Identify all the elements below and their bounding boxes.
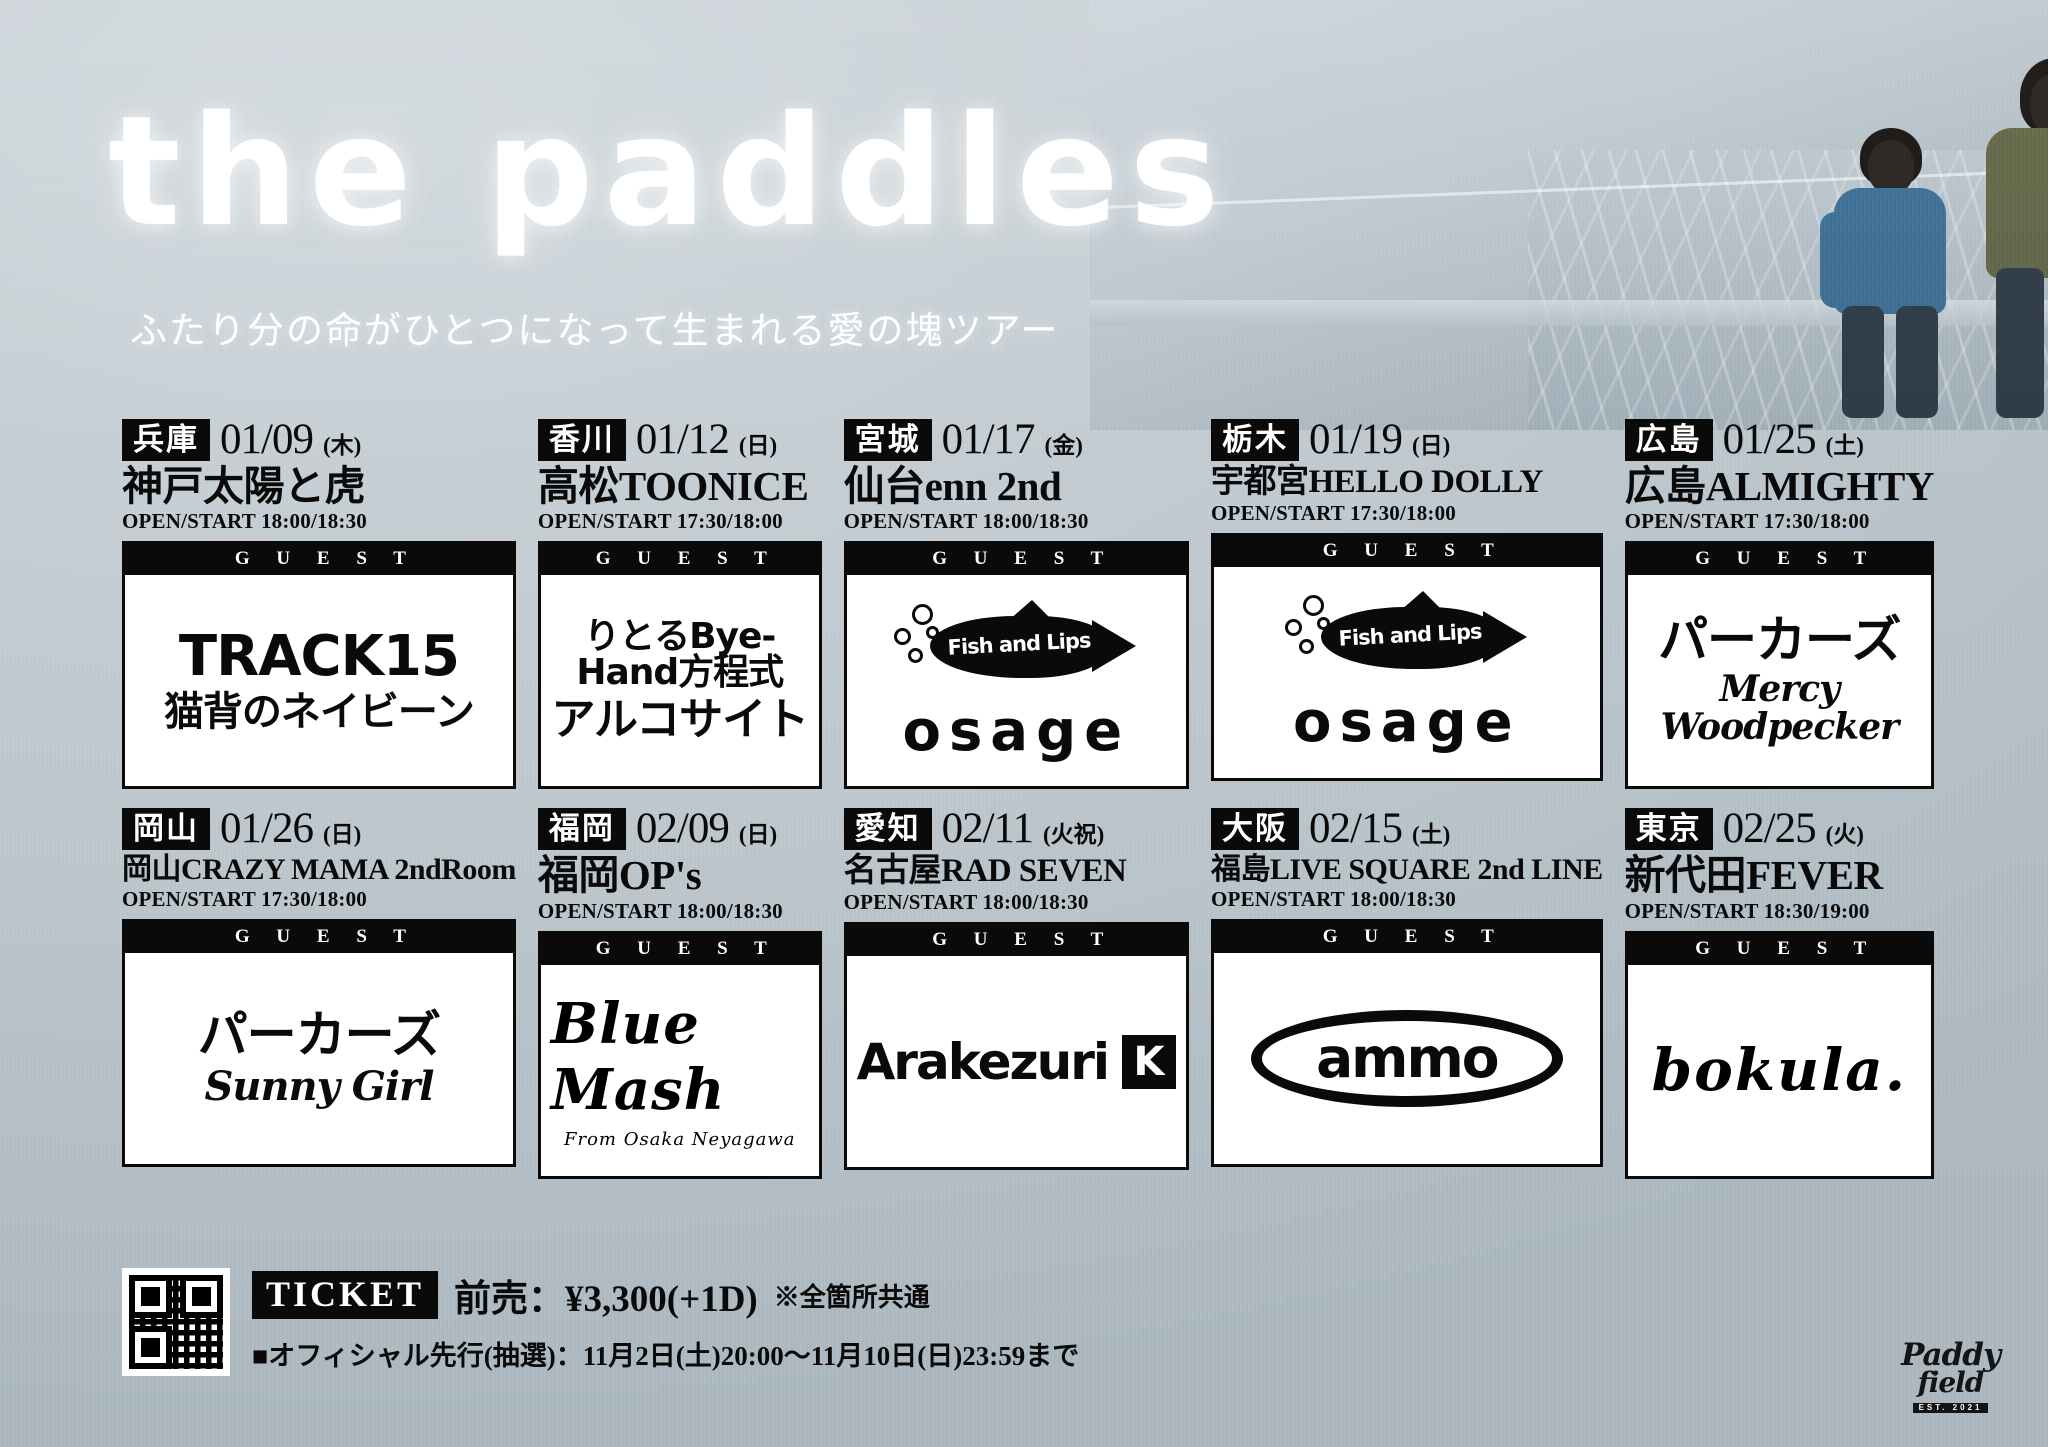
show-day-of-week: (木) — [323, 434, 361, 461]
date-meta: 広島01/25(土)広島ALMIGHTYOPEN/START 17:30/18:… — [1625, 418, 1934, 536]
band-photo — [1090, 0, 2048, 430]
prefecture-badge: 岡山 — [122, 808, 210, 850]
prefecture-badge: 愛知 — [844, 808, 932, 850]
guest-label: G U E S T — [1214, 536, 1600, 567]
guest-name-sub: アルコサイト — [551, 697, 808, 743]
guest-name: パーカーズ — [1658, 615, 1901, 665]
venue-name: 高松TOONICE — [538, 465, 822, 508]
guest-logo-box: G U E S Tbokula. — [1625, 931, 1934, 1179]
bubble-icon — [1285, 619, 1302, 636]
date-meta: 栃木01/19(日)宇都宮HELLO DOLLYOPEN/START 17:30… — [1211, 418, 1603, 528]
fish-and-lips-logo: Fish and Lips — [1277, 593, 1537, 689]
bubble-icon — [894, 628, 911, 645]
tour-subtitle: ふたり分の命がひとつになって生まれる愛の塊ツアー — [130, 300, 1059, 354]
show-date: 01/09 — [220, 418, 313, 461]
prefecture-badge: 東京 — [1625, 808, 1713, 850]
guest-name: Arakezuri — [857, 1037, 1108, 1087]
show-day-of-week: (日) — [739, 434, 777, 461]
venue-name: 名古屋RAD SEVEN — [844, 854, 1189, 889]
brand-line-2: field — [1901, 1370, 2000, 1397]
venue-name: 新代田FEVER — [1625, 854, 1934, 897]
show-day-of-week: (土) — [1412, 823, 1450, 850]
guest-name-sub: 猫背のネイビーン — [164, 691, 474, 733]
guest-logo-area: りとるBye-Hand方程式アルコサイト — [541, 575, 819, 786]
prefecture-badge: 福岡 — [538, 808, 626, 850]
ticket-footer: TICKET 前売：¥3,300(+1D) ※全箇所共通 ■オフィシャル先行(抽… — [122, 1268, 1079, 1376]
ticket-presale: ■オフィシャル先行(抽選)：11月2日(土)20:00〜11月10日(日)23:… — [252, 1334, 1079, 1373]
guest-name: りとるBye-Hand方程式 — [551, 619, 809, 691]
guest-logo-box: G U E S TパーカーズSunny Girl — [122, 919, 516, 1167]
tour-date-cell: 岡山01/26(日)岡山CRAZY MAMA 2ndRoomOPEN/START… — [122, 807, 516, 1178]
photo-building — [1528, 150, 2048, 430]
date-headline: 広島01/25(土) — [1625, 418, 1934, 461]
ammo-logo: ammo — [1251, 1010, 1563, 1107]
guest-label: G U E S T — [1214, 922, 1600, 953]
guest-logo-area: Fish and Lipsosage — [847, 575, 1186, 786]
tour-date-cell: 大阪02/15(土)福島LIVE SQUARE 2nd LINEOPEN/STA… — [1211, 807, 1603, 1178]
ticket-info: TICKET 前売：¥3,300(+1D) ※全箇所共通 ■オフィシャル先行(抽… — [252, 1268, 1079, 1373]
date-meta: 愛知02/11(火祝)名古屋RAD SEVENOPEN/START 18:00/… — [844, 807, 1189, 917]
open-start-times: OPEN/START 17:30/18:00 — [538, 509, 822, 534]
guest-logo-box: G U E S TBlue MashFrom Osaka Neyagawa — [538, 931, 822, 1179]
show-day-of-week: (火) — [1826, 823, 1864, 850]
show-date: 02/15 — [1309, 807, 1402, 850]
prefecture-badge: 広島 — [1625, 419, 1713, 461]
guest-label: G U E S T — [125, 922, 513, 953]
guest-logo-area: ammo — [1214, 953, 1600, 1164]
tour-date-grid: 兵庫01/09(木)神戸太陽と虎OPEN/START 18:00/18:30G … — [122, 418, 1934, 1179]
guest-logo-area: TRACK15猫背のネイビーン — [125, 575, 513, 786]
show-date: 01/12 — [636, 418, 729, 461]
date-headline: 兵庫01/09(木) — [122, 418, 516, 461]
guest-logo-area: Blue MashFrom Osaka Neyagawa — [541, 965, 819, 1176]
bubble-icon — [912, 604, 933, 625]
date-meta: 宮城01/17(金)仙台enn 2ndOPEN/START 18:00/18:3… — [844, 418, 1189, 536]
show-day-of-week: (金) — [1045, 434, 1083, 461]
tour-poster: the paddles ふたり分の命がひとつになって生まれる愛の塊ツアー 兵庫0… — [0, 0, 2048, 1447]
date-meta: 大阪02/15(土)福島LIVE SQUARE 2nd LINEOPEN/STA… — [1211, 807, 1603, 914]
tour-date-cell: 福岡02/09(日)福岡OP'sOPEN/START 18:00/18:30G … — [538, 807, 822, 1178]
paddy-field-logo: Paddy field EST. 2021 — [1901, 1341, 2000, 1413]
brand-tag: EST. 2021 — [1913, 1403, 1989, 1413]
qr-finder-top-left — [129, 1275, 172, 1318]
tour-date-cell: 東京02/25(火)新代田FEVEROPEN/START 18:30/19:00… — [1625, 807, 1934, 1178]
page-title: the paddles — [108, 96, 1230, 248]
guest-logo-box: G U E S TパーカーズMercy Woodpecker — [1625, 541, 1934, 789]
guest-logo-area: Fish and Lipsosage — [1214, 567, 1600, 778]
guest-logo-box: G U E S Tammo — [1211, 919, 1603, 1167]
prefecture-badge: 大阪 — [1211, 808, 1299, 850]
guest-logo-box: G U E S TりとるBye-Hand方程式アルコサイト — [538, 541, 822, 789]
show-date: 02/09 — [636, 807, 729, 850]
guest-label: G U E S T — [541, 544, 819, 575]
guest-logo-box: G U E S TArakezuriK — [844, 922, 1189, 1170]
open-start-times: OPEN/START 17:30/18:00 — [122, 887, 516, 912]
show-day-of-week: (土) — [1826, 434, 1864, 461]
guest-name: bokula. — [1652, 1036, 1907, 1104]
open-start-times: OPEN/START 17:30/18:00 — [1211, 501, 1603, 526]
date-headline: 香川01/12(日) — [538, 418, 822, 461]
guest-logo-area: パーカーズSunny Girl — [125, 953, 513, 1164]
show-date: 02/11 — [942, 807, 1033, 850]
tour-date-cell: 兵庫01/09(木)神戸太陽と虎OPEN/START 18:00/18:30G … — [122, 418, 516, 789]
prefecture-badge: 宮城 — [844, 419, 932, 461]
date-headline: 大阪02/15(土) — [1211, 807, 1603, 850]
date-meta: 岡山01/26(日)岡山CRAZY MAMA 2ndRoomOPEN/START… — [122, 807, 516, 914]
fish-tail-icon — [1483, 611, 1527, 663]
ticket-note: ※全箇所共通 — [774, 1277, 930, 1314]
guest-logo-area: パーカーズMercy Woodpecker — [1628, 575, 1931, 786]
venue-name: 岡山CRAZY MAMA 2ndRoom — [122, 854, 516, 886]
ticket-badge: TICKET — [252, 1271, 438, 1319]
arakezuri-mark: K — [1122, 1035, 1176, 1089]
guest-label: G U E S T — [125, 544, 513, 575]
tour-date-cell: 愛知02/11(火祝)名古屋RAD SEVENOPEN/START 18:00/… — [844, 807, 1189, 1178]
guest-logo-box: G U E S TFish and Lipsosage — [1211, 533, 1603, 781]
fish-tail-icon — [1092, 620, 1136, 672]
date-headline: 愛知02/11(火祝) — [844, 807, 1189, 850]
date-meta: 香川01/12(日)高松TOONICEOPEN/START 17:30/18:0… — [538, 418, 822, 536]
tour-date-cell: 栃木01/19(日)宇都宮HELLO DOLLYOPEN/START 17:30… — [1211, 418, 1603, 789]
show-date: 01/17 — [942, 418, 1035, 461]
prefecture-badge: 香川 — [538, 419, 626, 461]
guest-name-sub: From Osaka Neyagawa — [564, 1129, 796, 1150]
guest-name: TRACK15 — [179, 629, 459, 685]
tour-date-cell: 香川01/12(日)高松TOONICEOPEN/START 17:30/18:0… — [538, 418, 822, 789]
guest-name: osage — [902, 704, 1130, 760]
qr-finder-bottom-left — [129, 1326, 172, 1369]
prefecture-badge: 兵庫 — [122, 419, 210, 461]
show-date: 02/25 — [1723, 807, 1816, 850]
date-meta: 福岡02/09(日)福岡OP'sOPEN/START 18:00/18:30 — [538, 807, 822, 925]
ticket-price: 前売：¥3,300(+1D) — [454, 1268, 758, 1322]
qr-code[interactable] — [122, 1268, 230, 1376]
date-headline: 岡山01/26(日) — [122, 807, 516, 850]
fish-and-lips-logo: Fish and Lips — [886, 602, 1146, 698]
guest-name: ammo — [1316, 1031, 1498, 1086]
venue-name: 神戸太陽と虎 — [122, 465, 516, 508]
guest-logo-box: G U E S TTRACK15猫背のネイビーン — [122, 541, 516, 789]
bubble-icon — [1299, 639, 1314, 654]
open-start-times: OPEN/START 18:00/18:30 — [844, 509, 1189, 534]
open-start-times: OPEN/START 18:00/18:30 — [538, 899, 822, 924]
guest-name: osage — [1293, 695, 1521, 751]
qr-finder-top-right — [180, 1275, 223, 1318]
date-meta: 東京02/25(火)新代田FEVEROPEN/START 18:30/19:00 — [1625, 807, 1934, 925]
show-date: 01/26 — [220, 807, 313, 850]
venue-name: 広島ALMIGHTY — [1625, 465, 1934, 508]
guest-label: G U E S T — [847, 925, 1186, 956]
venue-name: 福岡OP's — [538, 854, 822, 897]
bubble-icon — [908, 648, 923, 663]
guest-name: Blue Mash — [551, 991, 809, 1123]
open-start-times: OPEN/START 18:30/19:00 — [1625, 899, 1934, 924]
show-day-of-week: (日) — [323, 823, 361, 850]
open-start-times: OPEN/START 18:00/18:30 — [122, 509, 516, 534]
open-start-times: OPEN/START 18:00/18:30 — [1211, 887, 1603, 912]
date-headline: 東京02/25(火) — [1625, 807, 1934, 850]
guest-label: G U E S T — [1628, 544, 1931, 575]
date-headline: 宮城01/17(金) — [844, 418, 1189, 461]
date-meta: 兵庫01/09(木)神戸太陽と虎OPEN/START 18:00/18:30 — [122, 418, 516, 536]
show-date: 01/25 — [1723, 418, 1816, 461]
prefecture-badge: 栃木 — [1211, 419, 1299, 461]
guest-logo-box: G U E S TFish and Lipsosage — [844, 541, 1189, 789]
open-start-times: OPEN/START 17:30/18:00 — [1625, 509, 1934, 534]
guest-name: パーカーズ — [198, 1010, 441, 1060]
guest-logo-area: ArakezuriK — [847, 956, 1186, 1167]
show-day-of-week: (日) — [739, 823, 777, 850]
show-day-of-week: (日) — [1412, 434, 1450, 461]
guest-name-sub: Sunny Girl — [204, 1066, 433, 1108]
arakezuri-logo: ArakezuriK — [857, 1035, 1176, 1089]
venue-name: 宇都宮HELLO DOLLY — [1211, 465, 1603, 500]
show-day-of-week: (火祝) — [1043, 823, 1104, 850]
bubble-icon — [1303, 595, 1324, 616]
guest-label: G U E S T — [847, 544, 1186, 575]
show-date: 01/19 — [1309, 418, 1402, 461]
venue-name: 福島LIVE SQUARE 2nd LINE — [1211, 854, 1603, 886]
guest-name-sub: Mercy Woodpecker — [1638, 671, 1921, 747]
date-headline: 栃木01/19(日) — [1211, 418, 1603, 461]
venue-name: 仙台enn 2nd — [844, 465, 1189, 508]
tour-date-cell: 宮城01/17(金)仙台enn 2ndOPEN/START 18:00/18:3… — [844, 418, 1189, 789]
guest-label: G U E S T — [1628, 934, 1931, 965]
date-headline: 福岡02/09(日) — [538, 807, 822, 850]
open-start-times: OPEN/START 18:00/18:30 — [844, 890, 1189, 915]
guest-label: G U E S T — [541, 934, 819, 965]
tour-date-cell: 広島01/25(土)広島ALMIGHTYOPEN/START 17:30/18:… — [1625, 418, 1934, 789]
guest-logo-area: bokula. — [1628, 965, 1931, 1176]
